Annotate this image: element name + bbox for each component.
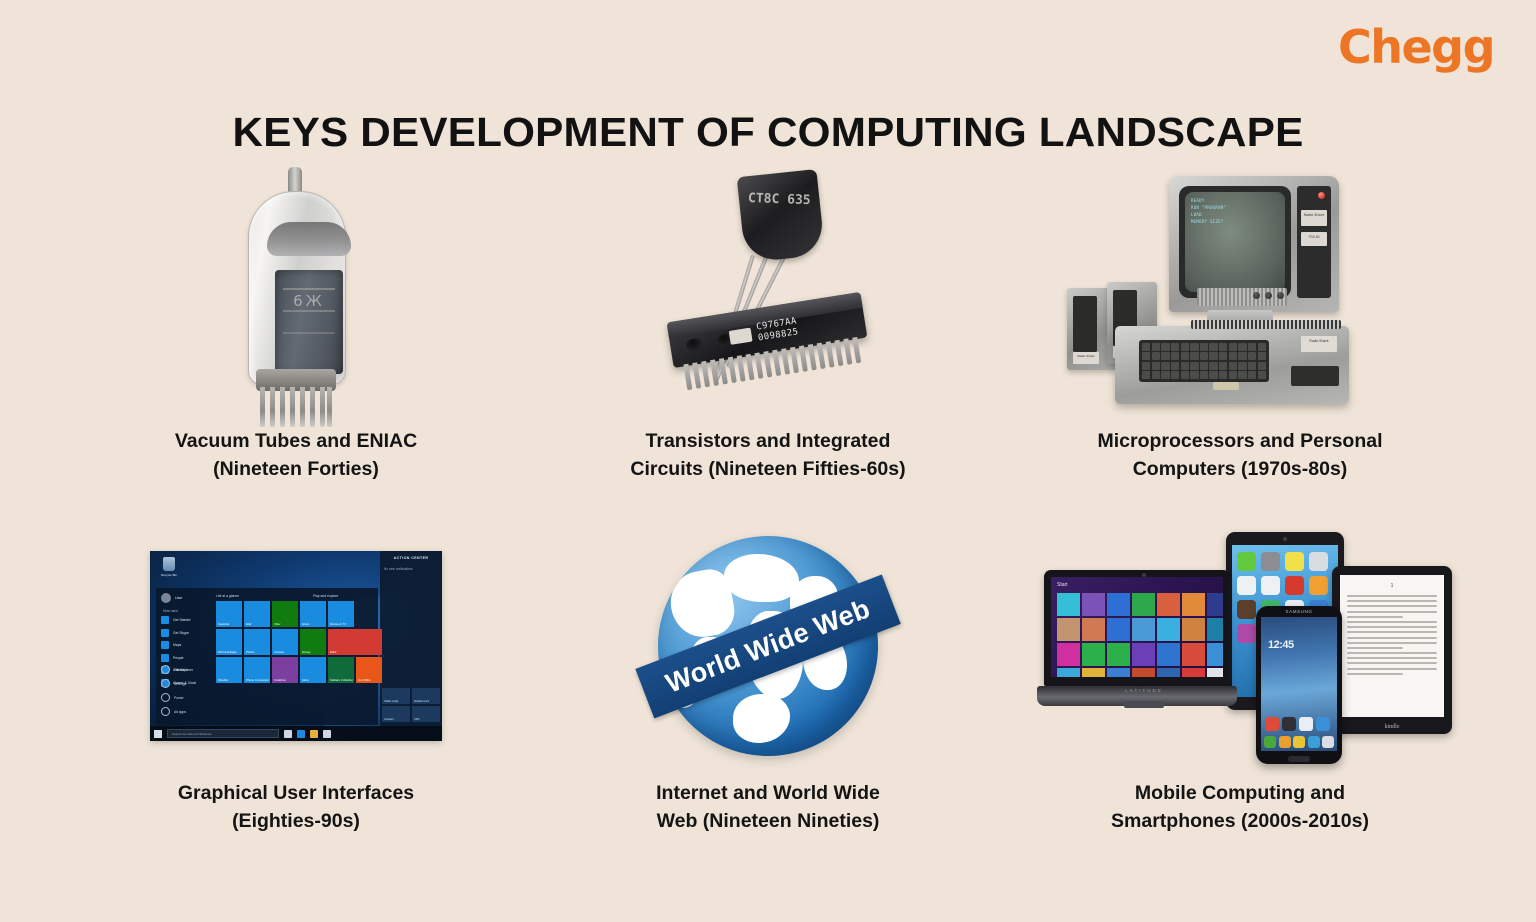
- start-tile[interactable]: Solitaire Collection: [328, 657, 354, 683]
- tile[interactable]: [1207, 643, 1223, 666]
- tile[interactable]: [1107, 668, 1130, 677]
- tile[interactable]: [1057, 668, 1080, 677]
- power-led-icon: [1318, 192, 1325, 199]
- milestone-card-vacuum-tubes: 6Ж Vacuum Tubes and ENIAC (Nineteen Fort…: [60, 160, 532, 512]
- text-line: [1347, 647, 1403, 649]
- phone-brand-label: SAMSUNG: [1256, 609, 1342, 614]
- floppy-slot: [1073, 296, 1097, 352]
- tile-group-heading-1: Life at a glance: [216, 594, 239, 598]
- ic-body: C9767AA 0098825: [667, 291, 868, 367]
- dock-icon-messages[interactable]: [1293, 736, 1305, 748]
- bin-glyph: [163, 557, 175, 571]
- caption-microprocessors-pcs: Microprocessors and Personal Computers (…: [1097, 428, 1382, 483]
- caption-line-2: (Nineteen Forties): [175, 456, 417, 484]
- text-line: [1347, 668, 1437, 670]
- app-icon[interactable]: [1285, 552, 1304, 571]
- tile[interactable]: [1082, 593, 1105, 616]
- tile[interactable]: [1082, 618, 1105, 641]
- laptop-lid: Start: [1044, 570, 1230, 686]
- keyboard-keys: [1139, 340, 1269, 382]
- start-tile[interactable]: Money: [300, 629, 326, 655]
- tile[interactable]: [1132, 593, 1155, 616]
- milestone-card-graphical-user-interfaces: Recycle Bin ACTION CENTER No new notific…: [60, 512, 532, 864]
- ic-pins: [683, 336, 865, 390]
- start-app-item[interactable]: Get Skype: [161, 629, 209, 637]
- start-tile[interactable]: Cortana: [272, 629, 298, 655]
- laptop-start-label: Start: [1057, 582, 1068, 588]
- ereader-device: 1: [1332, 566, 1452, 734]
- app-icon[interactable]: [1265, 717, 1279, 731]
- quick-action-tile[interactable]: Connect: [382, 706, 410, 722]
- tablet-camera-icon: [1283, 537, 1287, 541]
- laptop-device: Start: [1044, 570, 1244, 720]
- app-icon[interactable]: [1261, 576, 1280, 595]
- vintage-personal-computer-photo: Radio Shack Radio Shack READY RUN "PROGR…: [1004, 160, 1476, 428]
- text-line: [1347, 616, 1403, 618]
- store-icon[interactable]: [323, 730, 331, 738]
- user-label: User: [175, 596, 183, 600]
- space-bar: [1213, 382, 1239, 390]
- keyboard-label-panel: [1291, 366, 1339, 386]
- quick-action-tile[interactable]: VPN: [412, 706, 440, 722]
- app-icon[interactable]: [1299, 717, 1313, 731]
- milestone-card-transistors-ics: CT8C 635 C9767AA 0098825: [532, 160, 1004, 512]
- start-app-item[interactable]: Get Started: [161, 616, 209, 624]
- start-tile[interactable]: Get Office: [356, 657, 382, 683]
- tile[interactable]: [1057, 643, 1080, 666]
- start-tile[interactable]: Movies & TV: [328, 601, 354, 627]
- tile[interactable]: [1132, 668, 1155, 677]
- smartphone-device: SAMSUNG 12:45: [1256, 606, 1342, 764]
- start-item-settings[interactable]: Settings: [161, 679, 193, 688]
- tile[interactable]: [1082, 668, 1105, 677]
- text-line: [1347, 657, 1437, 659]
- caption-line-2: Computers (1970s-80s): [1097, 456, 1382, 484]
- quick-action-tile[interactable]: Tablet mode: [382, 688, 410, 704]
- app-icon[interactable]: [1309, 576, 1328, 595]
- chegg-logo: Chegg: [1338, 24, 1494, 70]
- milestone-card-mobile-smartphones: Start: [1004, 512, 1476, 864]
- ic-dimple-1: [686, 337, 704, 351]
- app-icon[interactable]: [1282, 717, 1296, 731]
- recycle-bin-icon[interactable]: Recycle Bin: [158, 557, 180, 577]
- ereader-brand-label: kindle: [1332, 724, 1452, 730]
- text-line: [1347, 605, 1437, 607]
- tile[interactable]: [1157, 593, 1180, 616]
- ereader-screen: 1: [1340, 575, 1444, 717]
- tile[interactable]: [1182, 618, 1205, 641]
- landmass: [733, 694, 790, 742]
- milestone-card-internet-www: World Wide Web Internet and World Wide W…: [532, 512, 1004, 864]
- action-center-title: ACTION CENTER: [380, 556, 442, 560]
- start-item-file-explorer[interactable]: File Explorer: [161, 665, 193, 674]
- tile[interactable]: [1182, 593, 1205, 616]
- start-item-all-apps[interactable]: All apps: [161, 707, 193, 716]
- text-line: [1347, 626, 1437, 628]
- tile-grid: Calendar Mail Xbox Music Movies & TV Mic…: [216, 601, 374, 683]
- quick-action-tile[interactable]: Rotation lock: [412, 688, 440, 704]
- tile[interactable]: [1207, 618, 1223, 641]
- start-menu-bottom-items: File Explorer Settings Power All apps: [161, 665, 193, 721]
- text-line: [1347, 631, 1437, 633]
- screen-line: MEMORY SIZE?: [1191, 219, 1279, 224]
- expansion-connector: [1191, 320, 1341, 329]
- phone-dock: [1264, 736, 1334, 748]
- tile[interactable]: [1057, 618, 1080, 641]
- text-line: [1347, 595, 1437, 597]
- phone-home-button[interactable]: [1288, 756, 1310, 762]
- text-line: [1347, 662, 1437, 664]
- action-center-empty-text: No new notifications: [384, 567, 438, 571]
- phone-app-icons: [1265, 717, 1333, 731]
- dock-icon-contacts[interactable]: [1279, 736, 1291, 748]
- caption-line-2: Smartphones (2000s-2010s): [1111, 808, 1369, 836]
- tube-anode-plate: 6Ж: [275, 270, 343, 374]
- edge-icon[interactable]: [297, 730, 305, 738]
- tile[interactable]: [1207, 668, 1223, 677]
- start-app-item[interactable]: People: [161, 654, 209, 662]
- tile[interactable]: [1057, 593, 1080, 616]
- dock-icon-apps[interactable]: [1322, 736, 1334, 748]
- tile[interactable]: [1207, 593, 1223, 616]
- app-icon[interactable]: [1237, 552, 1256, 571]
- start-tile[interactable]: Music: [300, 601, 326, 627]
- tile[interactable]: [1182, 668, 1205, 677]
- milestone-grid: 6Ж Vacuum Tubes and ENIAC (Nineteen Fort…: [60, 160, 1476, 864]
- dock-icon-browser[interactable]: [1308, 736, 1320, 748]
- tube-glass-envelope: 6Ж: [248, 191, 346, 385]
- start-button-icon[interactable]: [154, 730, 162, 738]
- tile[interactable]: [1157, 668, 1180, 677]
- start-menu: User Most used Get Started Get Skype Map…: [156, 588, 378, 725]
- start-tile[interactable]: OneDrive: [272, 657, 298, 683]
- caption-line-2: Circuits (Nineteen Fifties-60s): [630, 456, 905, 484]
- action-center-panel: ACTION CENTER No new notifications Table…: [380, 551, 442, 726]
- monitor-brand-plate: Radio Shack: [1301, 210, 1327, 226]
- text-line: [1347, 621, 1437, 623]
- keyboard-unit: Radio Shack: [1115, 326, 1349, 404]
- tile[interactable]: [1107, 593, 1130, 616]
- text-line: [1347, 642, 1437, 644]
- caption-vacuum-tubes: Vacuum Tubes and ENIAC (Nineteen Forties…: [175, 428, 417, 483]
- mobile-devices-photo: Start: [1004, 512, 1476, 780]
- app-icon[interactable]: [1309, 552, 1328, 571]
- start-tile[interactable]: Mail: [244, 601, 270, 627]
- start-tile[interactable]: Weather: [216, 657, 242, 683]
- tile-group-heading-2: Play and explore: [313, 594, 338, 598]
- start-menu-tiles: Life at a glance Play and explore Calend…: [216, 594, 374, 683]
- page-title: KEYS DEVELOPMENT OF COMPUTING LANDSCAPE: [0, 109, 1536, 156]
- caption-line-2: (Eighties-90s): [178, 808, 414, 836]
- start-tile[interactable]: Photos: [244, 629, 270, 655]
- text-line: [1347, 600, 1437, 602]
- start-tile[interactable]: Calendar: [216, 601, 242, 627]
- taskbar: Search the web and Windows: [150, 726, 442, 741]
- start-tile-spacer: [356, 601, 382, 627]
- caption-graphical-user-interfaces: Graphical User Interfaces (Eighties-90s): [178, 780, 414, 835]
- ereader-chapter-number: 1: [1347, 583, 1437, 589]
- tile[interactable]: [1082, 643, 1105, 666]
- text-line: [1347, 637, 1437, 639]
- start-item-power[interactable]: Power: [161, 693, 193, 702]
- screen-line: READY: [1191, 198, 1279, 203]
- task-view-icon[interactable]: [284, 730, 292, 738]
- transistor-and-ic-photo: CT8C 635 C9767AA 0098825: [532, 160, 1004, 428]
- vacuum-tube-photo: 6Ж: [60, 160, 532, 428]
- caption-line-1: Internet and World Wide: [656, 780, 880, 808]
- app-icon[interactable]: [1261, 552, 1280, 571]
- caption-line-1: Transistors and Integrated: [630, 428, 905, 456]
- transistor-body: CT8C 635: [737, 169, 826, 263]
- laptop-trackpad[interactable]: [1124, 701, 1164, 708]
- taskbar-search-input[interactable]: Search the web and Windows: [167, 729, 279, 738]
- caption-internet-www: Internet and World Wide Web (Nineteen Ni…: [656, 780, 880, 835]
- caption-line-1: Vacuum Tubes and ENIAC: [175, 428, 417, 456]
- start-tile[interactable]: Xbox: [272, 601, 298, 627]
- most-used-label: Most used: [163, 609, 209, 613]
- recycle-bin-label: Recycle Bin: [158, 573, 180, 577]
- text-line: [1347, 611, 1437, 613]
- text-line: [1347, 652, 1437, 654]
- laptop-start-tiles: [1057, 593, 1219, 677]
- tile[interactable]: [1157, 643, 1180, 666]
- crt-monitor: READY RUN "PROGRAM" LOAD MEMORY SIZE? Ra…: [1169, 176, 1339, 312]
- phone-clock-widget: 12:45: [1268, 639, 1294, 651]
- avatar: [161, 593, 171, 603]
- crt-bezel: READY RUN "PROGRAM" LOAD MEMORY SIZE?: [1179, 186, 1291, 298]
- tile[interactable]: [1182, 643, 1205, 666]
- caption-line-2: Web (Nineteen Nineties): [656, 808, 880, 836]
- tube-pins: [260, 387, 332, 427]
- screen-line: RUN "PROGRAM": [1191, 205, 1279, 210]
- screen-line: LOAD: [1191, 212, 1279, 217]
- caption-line-1: Graphical User Interfaces: [178, 780, 414, 808]
- caption-mobile-smartphones: Mobile Computing and Smartphones (2000s-…: [1111, 780, 1369, 835]
- tile[interactable]: [1132, 618, 1155, 641]
- monitor-model-plate: TRS-80: [1301, 232, 1327, 246]
- monitor-knobs: [1253, 286, 1289, 304]
- laptop-brand-label: LATITUDE: [1125, 688, 1162, 693]
- tube-marking: 6Ж: [275, 292, 343, 310]
- ic-manufacturer-logo: [729, 327, 753, 344]
- start-app-item[interactable]: Maps: [161, 641, 209, 649]
- keyboard-brand-plate: Radio Shack: [1301, 336, 1337, 352]
- phone-screen: 12:45: [1261, 617, 1337, 751]
- transistor-marking: CT8C 635: [739, 189, 820, 209]
- text-line: [1347, 673, 1403, 675]
- tile[interactable]: [1132, 643, 1155, 666]
- start-tile[interactable]: Microsoft Edge: [216, 629, 242, 655]
- landmass: [724, 554, 799, 602]
- tile[interactable]: [1107, 618, 1130, 641]
- start-menu-left-rail: User Most used Get Started Get Skype Map…: [156, 588, 214, 725]
- tile[interactable]: [1157, 618, 1180, 641]
- quick-actions: Tablet mode Rotation lock Connect VPN: [382, 688, 440, 722]
- app-icon[interactable]: [1285, 576, 1304, 595]
- start-tile[interactable]: Store: [300, 657, 326, 683]
- file-explorer-icon[interactable]: [310, 730, 318, 738]
- caption-transistors-ics: Transistors and Integrated Circuits (Nin…: [630, 428, 905, 483]
- dock-icon-phone[interactable]: [1264, 736, 1276, 748]
- tube-getter-flash: [267, 222, 351, 256]
- floppy-badge: Radio Shack: [1073, 352, 1099, 364]
- tile[interactable]: [1107, 643, 1130, 666]
- start-tile[interactable]: MSN: [328, 629, 382, 655]
- app-icon[interactable]: [1316, 717, 1330, 731]
- caption-line-1: Microprocessors and Personal: [1097, 428, 1382, 456]
- user-account[interactable]: User: [161, 593, 209, 603]
- crt-screen: READY RUN "PROGRAM" LOAD MEMORY SIZE?: [1185, 192, 1285, 292]
- milestone-card-microprocessors-pcs: Radio Shack Radio Shack READY RUN "PROGR…: [1004, 160, 1476, 512]
- windows-start-menu-screenshot: Recycle Bin ACTION CENTER No new notific…: [60, 512, 532, 780]
- laptop-screen: Start: [1051, 577, 1223, 677]
- caption-line-1: Mobile Computing and: [1111, 780, 1369, 808]
- world-wide-web-globe-logo: World Wide Web: [532, 512, 1004, 780]
- start-tile[interactable]: Phone Companion: [244, 657, 270, 683]
